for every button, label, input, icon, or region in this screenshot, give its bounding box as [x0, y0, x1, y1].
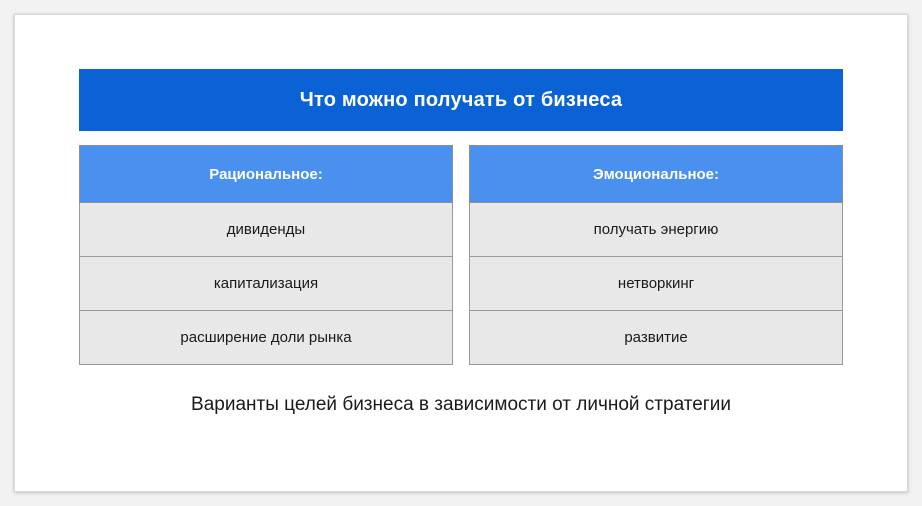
- table-row: дивиденды: [79, 203, 453, 257]
- column-header-rational: Рациональное:: [79, 145, 453, 203]
- table-row: развитие: [469, 311, 843, 365]
- slide-caption: Варианты целей бизнеса в зависимости от …: [15, 393, 907, 417]
- cell-label: расширение доли рынка: [172, 329, 359, 347]
- column-emotional: Эмоциональное: получать энергию нетворки…: [469, 145, 843, 365]
- cell-label: развитие: [616, 329, 695, 347]
- slide-card: Что можно получать от бизнеса Рациональн…: [14, 14, 908, 492]
- table-row: нетворкинг: [469, 257, 843, 311]
- column-header-emotional: Эмоциональное:: [469, 145, 843, 203]
- title-banner: Что можно получать от бизнеса: [79, 69, 843, 131]
- table-row: расширение доли рынка: [79, 311, 453, 365]
- cell-label: дивиденды: [219, 221, 313, 239]
- column-header-label: Рациональное:: [209, 166, 322, 183]
- columns-container: Рациональное: дивиденды капитализация ра…: [79, 145, 843, 365]
- caption-text: Варианты целей бизнеса в зависимости от …: [15, 393, 907, 417]
- cell-label: нетворкинг: [610, 275, 702, 293]
- table-row: капитализация: [79, 257, 453, 311]
- slide-title: Что можно получать от бизнеса: [300, 89, 623, 111]
- table-row: получать энергию: [469, 203, 843, 257]
- cell-label: получать энергию: [586, 221, 727, 239]
- column-header-label: Эмоциональное:: [593, 166, 719, 183]
- cell-label: капитализация: [206, 275, 326, 293]
- column-rational: Рациональное: дивиденды капитализация ра…: [79, 145, 453, 365]
- slide-frame: Что можно получать от бизнеса Рациональн…: [0, 0, 922, 506]
